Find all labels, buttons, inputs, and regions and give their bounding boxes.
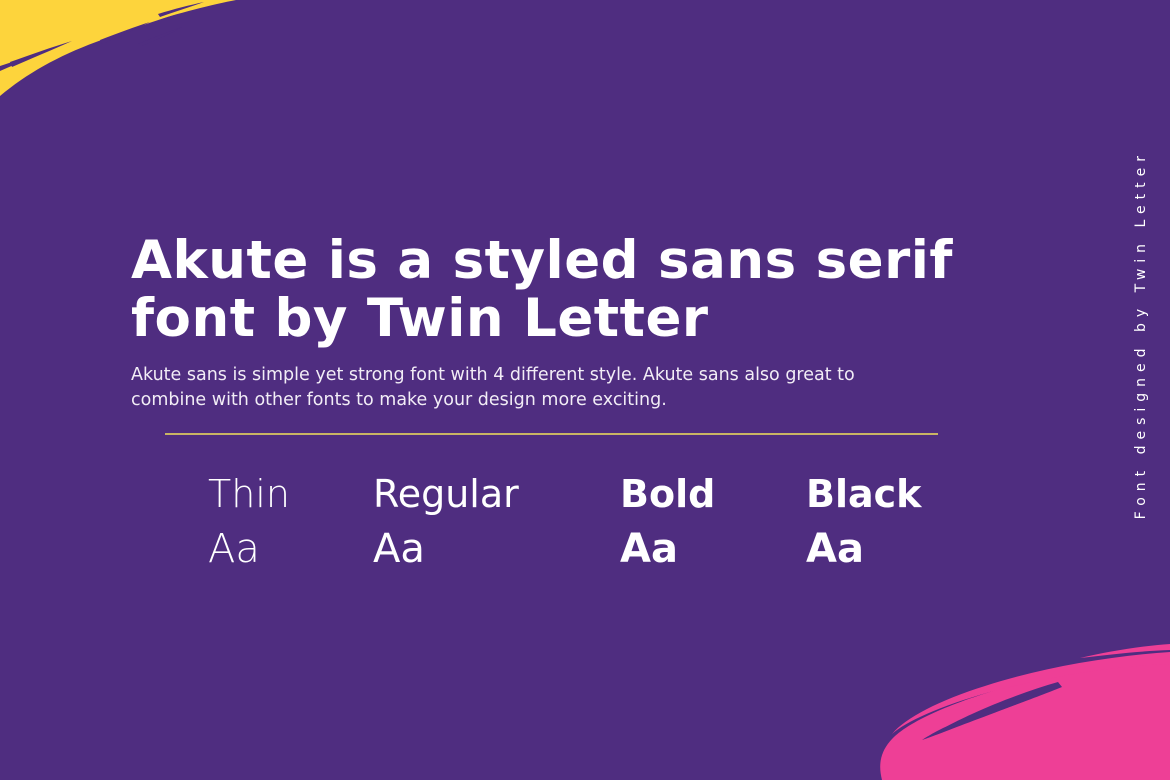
vertical-credit: Font designed by Twin Letter <box>1128 150 1154 540</box>
weight-label: Regular <box>373 468 519 520</box>
weight-specimen-thin: Thin Aa <box>208 468 290 578</box>
page-title: Akute is a styled sans serif font by Twi… <box>131 232 991 348</box>
weight-sample-glyphs: Aa <box>806 520 921 578</box>
weight-specimen-bold: Bold Aa <box>620 468 715 578</box>
weight-label: Thin <box>208 468 290 520</box>
weight-specimen-black: Black Aa <box>806 468 921 578</box>
font-specimen-poster: Akute is a styled sans serif font by Twi… <box>0 0 1170 780</box>
vertical-credit-label: Font designed by Twin Letter <box>1133 150 1149 519</box>
weight-sample-glyphs: Aa <box>620 520 715 578</box>
divider <box>165 433 938 435</box>
weight-sample-glyphs: Aa <box>373 520 519 578</box>
weight-label: Black <box>806 468 921 520</box>
description-text: Akute sans is simple yet strong font wit… <box>131 363 921 413</box>
weight-specimen-regular: Regular Aa <box>373 468 519 578</box>
weight-specimen-row: Thin Aa Regular Aa Bold Aa Black Aa <box>0 468 1170 598</box>
weight-label: Bold <box>620 468 715 520</box>
weight-sample-glyphs: Aa <box>208 520 290 578</box>
